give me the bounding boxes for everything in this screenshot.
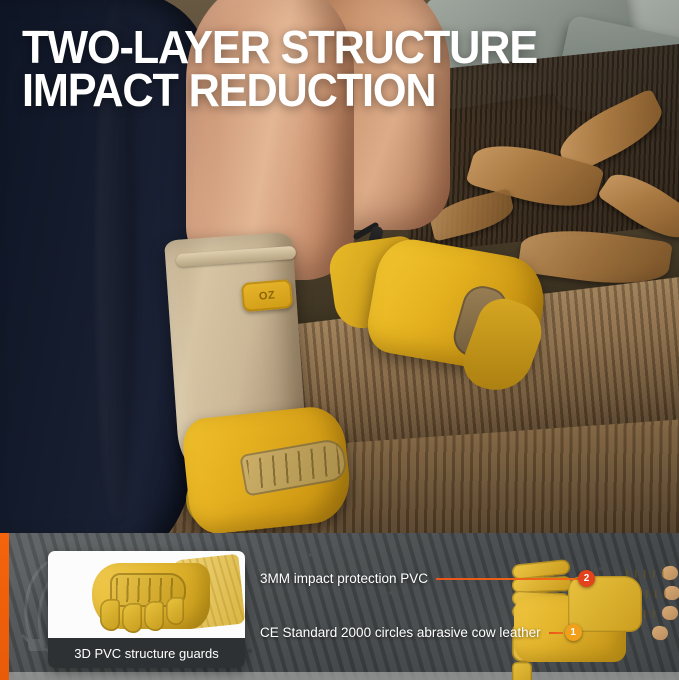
diagram-fingertip xyxy=(651,625,669,641)
callout-leader-line xyxy=(436,578,578,580)
callout-badge-1: 1 xyxy=(565,624,582,641)
product-feature-poster: OZ TWO-LAYER STRUCTURE IMPACT REDUCTION xyxy=(0,0,679,680)
callout-cow-leather: CE Standard 2000 circles abrasive cow le… xyxy=(260,624,582,641)
panel-bottom-strip xyxy=(0,672,679,680)
diagram-cuff-pad xyxy=(512,662,532,680)
feature-card[interactable]: 3D PVC structure guards xyxy=(48,551,245,668)
page-title: TWO-LAYER STRUCTURE IMPACT REDUCTION xyxy=(22,26,537,112)
card-glove-finger xyxy=(100,599,120,631)
hero-photo: OZ TWO-LAYER STRUCTURE IMPACT REDUCTION xyxy=(0,0,679,533)
card-glove-finger xyxy=(166,597,184,625)
feature-card-caption: 3D PVC structure guards xyxy=(48,638,245,668)
brand-patch-label: OZ xyxy=(241,279,293,312)
callout-impact-pvc: 3MM impact protection PVC 2 xyxy=(260,570,595,587)
card-glove-finger xyxy=(144,601,164,631)
brand-patch: OZ xyxy=(241,279,293,312)
headline-line-2: IMPACT REDUCTION xyxy=(22,69,537,112)
diagram-fingertip xyxy=(664,586,679,601)
callout-badge-2: 2 xyxy=(578,570,595,587)
callout-label: CE Standard 2000 circles abrasive cow le… xyxy=(260,625,541,640)
feature-card-image xyxy=(48,551,245,638)
callout-leader-line xyxy=(549,632,563,634)
callout-label: 3MM impact protection PVC xyxy=(260,571,428,586)
diagram-fingertip xyxy=(662,606,679,621)
accent-bar xyxy=(0,533,9,680)
card-glove-finger xyxy=(122,603,142,633)
